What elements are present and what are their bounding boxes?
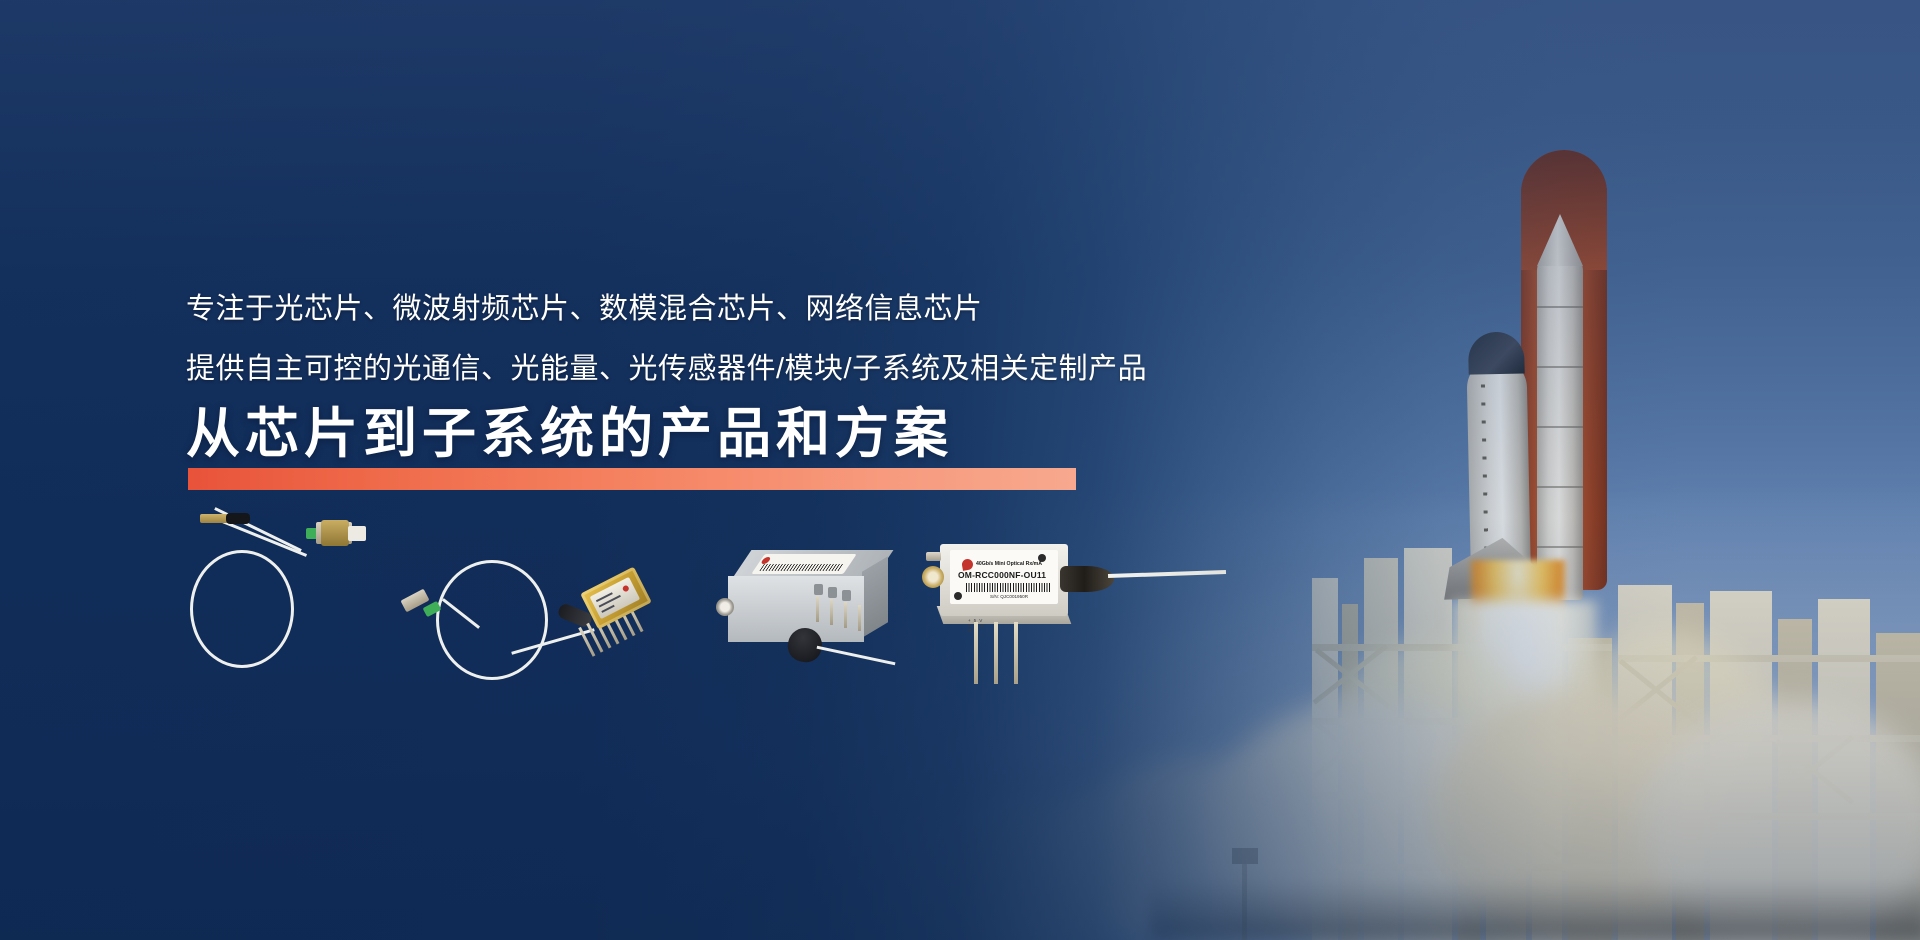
barcode-icon [966, 583, 1050, 592]
banner-subtitle-line1: 专注于光芯片、微波射频芯片、数模混合芯片、网络信息芯片 [186, 290, 983, 329]
module-label-model: OM-RCC000NF-OU11 [958, 570, 1046, 580]
headline-underline-bar [188, 468, 1076, 490]
module-label-serial: S/N: QJC001950R [990, 594, 1028, 599]
banner-content: 专注于光芯片、微波射频芯片、数模混合芯片、网络信息芯片 提供自主可控的光通信、光… [0, 0, 1920, 940]
hero-banner: 专注于光芯片、微波射频芯片、数模混合芯片、网络信息芯片 提供自主可控的光通信、光… [0, 0, 1920, 940]
sma-connector-icon [922, 566, 944, 588]
banner-subtitle-line2: 提供自主可控的光通信、光能量、光传感器件/模块/子系统及相关定制产品 [186, 350, 1147, 389]
banner-headline-wrap: 从芯片到子系统的产品和方案 [186, 406, 953, 463]
banner-headline: 从芯片到子系统的产品和方案 [186, 406, 953, 463]
optical-nose-icon [1060, 566, 1114, 592]
product-image-row: 40Gb/s Mini Optical Rx/mA OM-RCC000NF-OU… [180, 500, 1170, 700]
module-label-spec: 40Gb/s Mini Optical Rx/mA [976, 561, 1042, 567]
brand-logo-icon [961, 558, 974, 571]
sma-connector-icon [716, 598, 734, 616]
module-label: 40Gb/s Mini Optical Rx/mA OM-RCC000NF-OU… [950, 550, 1058, 604]
